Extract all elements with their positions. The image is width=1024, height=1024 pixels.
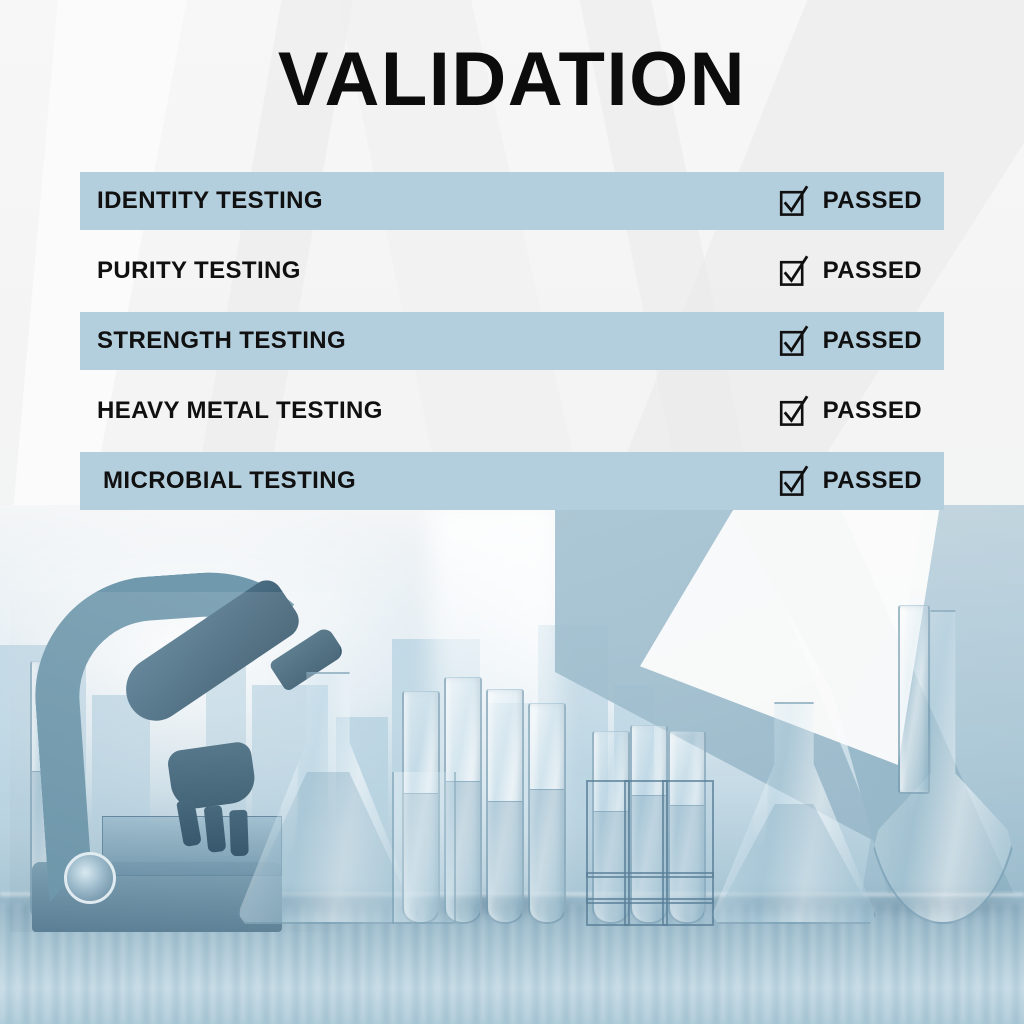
test-tube-rack-post-1 [624,780,630,926]
test-tube-rack-post-2 [662,780,668,926]
test-tube-4 [528,703,566,924]
checked-checkbox-icon [779,255,809,287]
row-status: PASSED [779,465,922,497]
checked-checkbox-icon [779,325,809,357]
checklist-row-purity-testing[interactable]: PURITY TESTING PASSED [80,242,944,300]
row-label: PURITY TESTING [97,257,301,285]
row-label: HEAVY METAL TESTING [97,397,383,425]
checklist-row-identity-testing[interactable]: IDENTITY TESTING PASSED [80,172,944,230]
validation-checklist: IDENTITY TESTING PASSED PURITY TESTING [80,172,944,522]
checked-checkbox-icon [779,185,809,217]
row-label: STRENGTH TESTING [97,327,346,355]
row-status: PASSED [779,395,922,427]
test-tube-rack-rail-low [586,898,714,904]
status-text: PASSED [823,327,922,355]
status-text: PASSED [823,187,922,215]
status-text: PASSED [823,467,922,495]
status-text: PASSED [823,257,922,285]
row-status: PASSED [779,255,922,287]
page-title: VALIDATION [0,42,1024,118]
test-tube-rack-rail-mid [586,872,714,878]
row-label: IDENTITY TESTING [97,187,323,215]
laboratory-scene-image [0,505,1024,1024]
volumetric-flask-neck [898,605,930,794]
checklist-row-strength-testing[interactable]: STRENGTH TESTING PASSED [80,312,944,370]
row-label: MICROBIAL TESTING [97,467,356,495]
row-status: PASSED [779,325,922,357]
status-text: PASSED [823,397,922,425]
validation-poster: VALIDATION IDENTITY TESTING PASSED PURIT… [0,0,1024,1024]
test-tube-3 [486,689,524,924]
checklist-row-heavy-metal-testing[interactable]: HEAVY METAL TESTING PASSED [80,382,944,440]
row-status: PASSED [779,185,922,217]
checked-checkbox-icon [779,465,809,497]
tube-holder-square-left [392,772,456,924]
test-tube-rack-frame [586,780,714,926]
checked-checkbox-icon [779,395,809,427]
checklist-row-microbial-testing[interactable]: MICROBIAL TESTING PASSED [80,452,944,510]
